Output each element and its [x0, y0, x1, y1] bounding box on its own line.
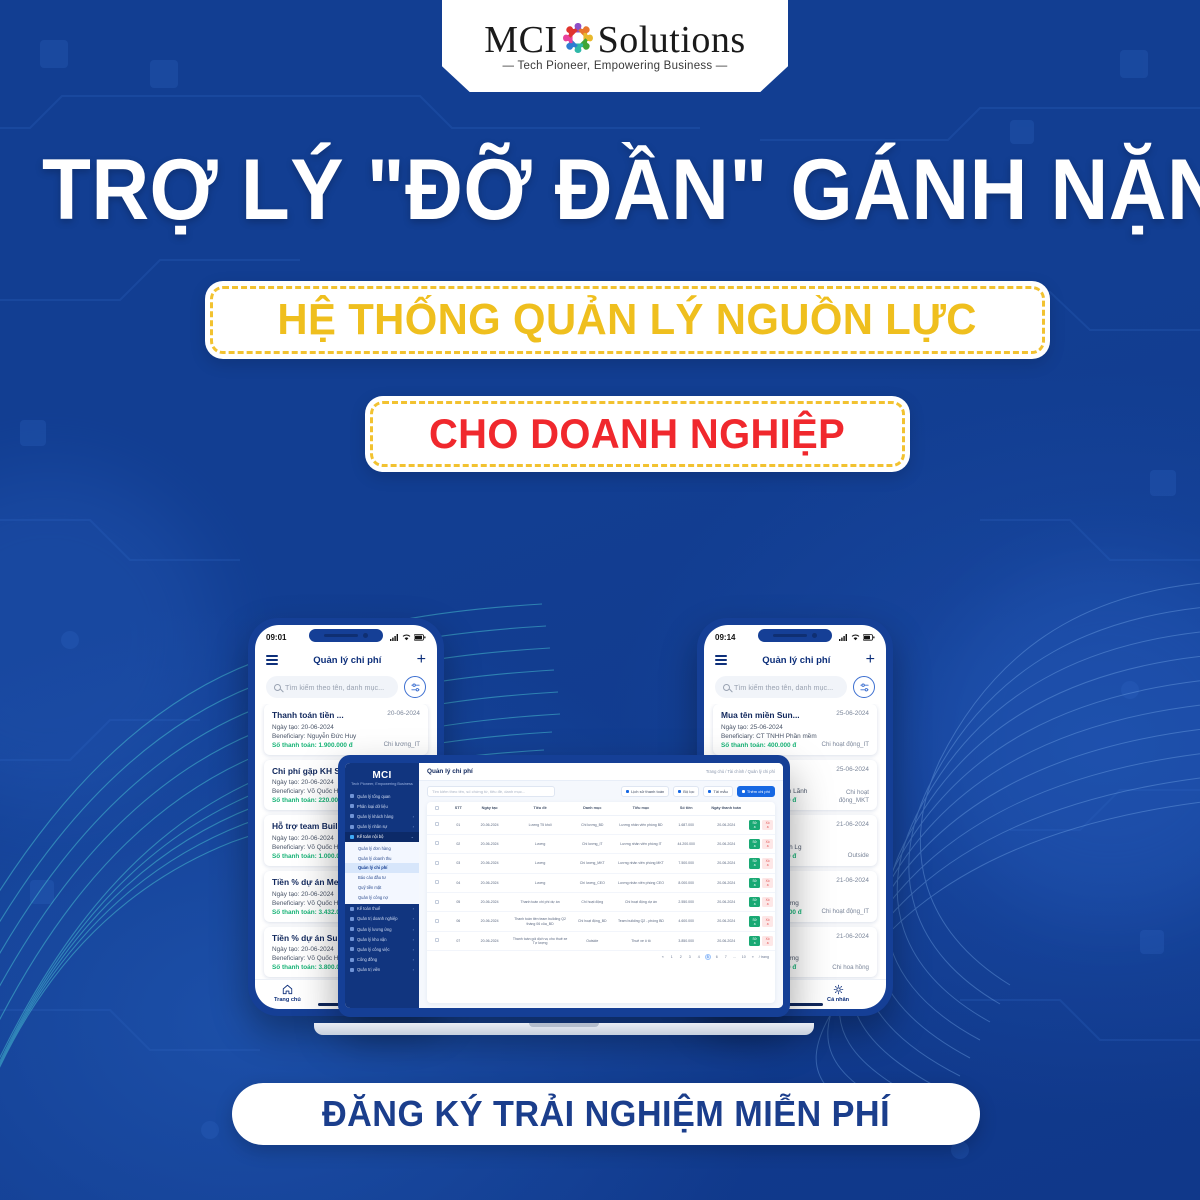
select-all-checkbox[interactable]	[435, 806, 439, 810]
page-7[interactable]: 7	[723, 954, 729, 960]
wifi-icon	[851, 634, 860, 641]
device-mockups: 09:01 Quản lý chi phí + Tìm kiếm the	[0, 600, 1200, 1060]
cell-category: Outside	[570, 931, 615, 950]
cell-actions[interactable]: SửaXóa	[747, 854, 775, 873]
laptop-base	[314, 1023, 814, 1035]
list-item-date: 25-06-2024	[836, 710, 869, 717]
page-4[interactable]: 4	[696, 954, 702, 960]
chevron-right-icon: ›	[413, 937, 414, 942]
cell-subcategory: Lương nhân viên phòng IT	[615, 834, 667, 853]
page-current[interactable]: 5	[705, 954, 711, 960]
cell-paydate: 20-06-2024	[705, 854, 747, 873]
sidebar-item-tax[interactable]: Kế toán thuế ›	[345, 904, 419, 914]
cell-subcategory: Thuê xe ô tô	[615, 931, 667, 950]
home-icon	[282, 984, 293, 995]
cell-created: 20-06-2024	[469, 815, 511, 834]
list-item-tag: Chi hoạt động_MKT	[817, 789, 869, 805]
edit-button[interactable]: Sửa	[749, 858, 760, 868]
col-title[interactable]: Tiêu đề	[511, 802, 570, 815]
subheadline-box-secondary: CHO DOANH NGHIỆP	[365, 396, 910, 472]
cell-stt: 02	[448, 834, 469, 853]
cell-title: Lương	[511, 834, 570, 853]
edit-button[interactable]: Sửa	[749, 897, 760, 907]
chevron-down-icon: ⌄	[411, 834, 414, 839]
cell-title: Thanh toán gói dịch vụ cho thuê xe Tự lư…	[511, 931, 570, 950]
wifi-icon	[402, 634, 411, 641]
submenu-item-orders[interactable]: Quản lý đơn hàng	[345, 843, 419, 853]
cell-created: 20-06-2024	[469, 912, 511, 931]
submenu-item-cash[interactable]: Quỹ tiền mặt	[345, 883, 419, 893]
poster-canvas: MCI Solutions — Tech Pioneer, Empowering…	[0, 0, 1200, 1200]
search-placeholder-left: Tìm kiếm theo tên, danh mục...	[285, 683, 384, 692]
users-icon	[350, 814, 354, 818]
cell-title: Lương	[511, 873, 570, 892]
row-checkbox-cell[interactable]	[427, 873, 448, 892]
list-item-created: Ngày tạo: 25-06-2024	[721, 723, 869, 732]
logo-row: MCI Solutions	[484, 21, 745, 59]
hamburger-icon[interactable]	[266, 655, 278, 664]
nav-tab-profile[interactable]: Cá nhân	[827, 984, 849, 1003]
delete-button[interactable]: Xóa	[762, 916, 773, 926]
cell-amount: 2.550.000	[667, 893, 705, 912]
phone-notch-right	[758, 629, 832, 642]
cell-paydate: 20-06-2024	[705, 893, 747, 912]
row-checkbox[interactable]	[435, 938, 439, 942]
page-10[interactable]: 10	[741, 954, 747, 960]
sidebar-item-customers[interactable]: Quản lý khách hàng ›	[345, 811, 419, 821]
cell-paydate: 20-06-2024	[705, 912, 747, 931]
delete-button[interactable]: Xóa	[762, 839, 773, 849]
laptop-mockup: MCI Tech Pioneer, Empowering Business Qu…	[338, 755, 790, 1035]
page-2[interactable]: 2	[678, 954, 684, 960]
box-icon	[350, 937, 354, 941]
status-icons-right	[839, 634, 875, 641]
cell-category: Chi lương_MKT	[570, 854, 615, 873]
table-row[interactable]: 07 20-06-2024 Thanh toán gói dịch vụ cho…	[427, 931, 775, 950]
cell-paydate: 20-06-2024	[705, 815, 747, 834]
cell-paydate: 20-06-2024	[705, 931, 747, 950]
page-1[interactable]: 1	[669, 954, 675, 960]
filter-label: Bộ lọc	[683, 789, 694, 794]
history-icon	[626, 790, 629, 793]
delete-button[interactable]: Xóa	[762, 897, 773, 907]
wallet-icon	[350, 835, 354, 839]
row-checkbox-cell[interactable]	[427, 912, 448, 931]
expense-table-wrapper[interactable]: STT Ngày tạo Tiêu đề Danh mục Tiểu mục S…	[427, 802, 775, 1003]
cell-stt: 05	[448, 893, 469, 912]
delete-button[interactable]: Xóa	[762, 820, 773, 830]
page-title: TRỢ LÝ "ĐỠ ĐẦN" GÁNH NẶNG	[42, 148, 1158, 232]
sidebar-item-warehouse[interactable]: Quản lý kho vận ›	[345, 934, 419, 944]
list-item-tag: Chi lương_IT	[384, 741, 420, 749]
list-item-beneficiary: Beneficiary: Nguyễn Đức Huy	[272, 732, 420, 741]
col-actions	[747, 802, 775, 815]
row-checkbox-cell[interactable]	[427, 893, 448, 912]
list-item-date: 25-06-2024	[836, 766, 869, 773]
edit-button[interactable]: Sửa	[749, 878, 760, 888]
app-title-right: Quản lý chi phí	[762, 655, 830, 666]
cell-title: Thanh toán chi phí dự án	[511, 893, 570, 912]
delete-button[interactable]: Xóa	[762, 858, 773, 868]
nav-tab-home-label: Trang chủ	[274, 997, 301, 1003]
battery-icon	[414, 634, 426, 641]
status-time-left: 09:01	[266, 633, 286, 642]
download-label: Tải mẫu	[713, 789, 727, 794]
list-item-tag: Chi hoạt động_IT	[822, 908, 869, 916]
cell-stt: 03	[448, 854, 469, 873]
sidebar-item-admin[interactable]: Quản trị viên ›	[345, 965, 419, 975]
col-amount[interactable]: Số tiền	[667, 802, 705, 815]
col-paydate[interactable]: Ngày thanh toán	[705, 802, 747, 815]
brand-tagline: — Tech Pioneer, Empowering Business —	[502, 60, 727, 72]
submenu-item-label: Quỹ tiền mặt	[358, 885, 381, 890]
submenu-item-debt[interactable]: Quản lý công nợ	[345, 892, 419, 902]
sidebar-item-tasks[interactable]: Quản lý công việc ›	[345, 944, 419, 954]
search-row-right: Tìm kiếm theo tên, danh mục...	[704, 673, 886, 704]
cell-title: Lương T5 khối	[511, 815, 570, 834]
laptop-screen: MCI Tech Pioneer, Empowering Business Qu…	[338, 755, 790, 1017]
table-pagination[interactable]: « 1 2 3 4 5 6 7 ... 10 »	[427, 951, 775, 963]
cash-icon	[350, 927, 354, 931]
cell-category: Chi lương_IT	[570, 834, 615, 853]
search-icon	[723, 684, 730, 691]
file-icon	[350, 907, 354, 911]
cell-amount: 7.500.000	[667, 854, 705, 873]
submenu-item-label: Quản lý chi phí	[358, 865, 387, 870]
sidebar-item-label: Quản lý công việc	[357, 947, 390, 952]
download-icon	[708, 790, 711, 793]
cell-category: Chi lương_BD	[570, 815, 615, 834]
cell-amount: 8.000.000	[667, 873, 705, 892]
edit-button[interactable]: Sửa	[749, 916, 760, 926]
cell-created: 20-06-2024	[469, 893, 511, 912]
sidebar-item-label: Quản lý kho vận	[357, 937, 387, 942]
row-checkbox[interactable]	[435, 900, 439, 904]
subheadline-primary-text: HỆ THỐNG QUẢN LÝ NGUỒN LỰC	[278, 295, 977, 345]
dashboard-toolbar: Tìm kiếm theo tên, số chứng từ, tiêu đề,…	[419, 781, 783, 802]
signal-icon	[390, 634, 399, 641]
table-row[interactable]: 01 20-06-2024 Lương T5 khối Chi lương_BD…	[427, 815, 775, 834]
sidebar-item-label: Quản lý khách hàng	[357, 814, 393, 819]
list-item-beneficiary: Beneficiary: CT TNHH Phần mềm	[721, 732, 869, 741]
chevron-right-icon: ›	[413, 906, 414, 911]
sidebar-logo-title: MCI	[345, 770, 419, 781]
cell-amount: 1.687.000	[667, 815, 705, 834]
col-stt[interactable]: STT	[448, 802, 469, 815]
nav-tab-profile-label: Cá nhân	[827, 997, 849, 1003]
sidebar-item-label: Quản lý tổng quan	[357, 794, 390, 799]
expense-table: STT Ngày tạo Tiêu đề Danh mục Tiểu mục S…	[427, 802, 775, 951]
sidebar-item-governance[interactable]: Quản trị doanh nghiệp ›	[345, 914, 419, 924]
edit-button[interactable]: Sửa	[749, 936, 760, 946]
sidebar-item-label: Kế toán thuế	[357, 906, 380, 911]
row-checkbox[interactable]	[435, 861, 439, 865]
search-input-right[interactable]: Tìm kiếm theo tên, danh mục...	[715, 676, 847, 698]
row-checkbox-cell[interactable]	[427, 815, 448, 834]
search-row-left: Tìm kiếm theo tên, danh mục...	[255, 673, 437, 704]
plus-icon[interactable]: +	[866, 652, 875, 668]
cell-title: Thanh toán tiền team building Q2 tháng 0…	[511, 912, 570, 931]
cell-actions[interactable]: SửaXóa	[747, 912, 775, 931]
page-size-label[interactable]: / trang	[759, 954, 769, 960]
filter-sliders-icon[interactable]	[853, 676, 875, 698]
globe-icon	[350, 958, 354, 962]
row-checkbox[interactable]	[435, 841, 439, 845]
cell-subcategory: Team building Q2 - phòng BD	[615, 912, 667, 931]
cell-category: Chi hoạt động	[570, 893, 615, 912]
logo-text-mci: MCI	[484, 21, 557, 59]
subheadline-secondary-text: CHO DOANH NGHIỆP	[429, 410, 845, 458]
sidebar-submenu[interactable]: Quản lý đơn hàng Quản lý doanh thu Quản …	[345, 842, 419, 904]
page-6[interactable]: 6	[714, 954, 720, 960]
dashboard-sidebar[interactable]: MCI Tech Pioneer, Empowering Business Qu…	[345, 763, 419, 1008]
page-ellipsis: ...	[732, 954, 738, 960]
sidebar-item-community[interactable]: Công đồng ›	[345, 955, 419, 965]
dashboard-main: Quản lý chi phí Trang chủ / Tài chính / …	[419, 763, 783, 1008]
page-next[interactable]: »	[750, 954, 756, 960]
sidebar-item-data[interactable]: Phân loại dữ liệu	[345, 801, 419, 811]
status-icons-left	[390, 634, 426, 641]
chevron-right-icon: ›	[413, 957, 414, 962]
filter-icon	[678, 790, 681, 793]
filter-button[interactable]: Bộ lọc	[673, 786, 699, 797]
sidebar-item-label: Kế toán nội bộ	[357, 834, 383, 839]
table-row[interactable]: 03 20-06-2024 Lương Chi lương_MKT Lương …	[427, 854, 775, 873]
sidebar-item-label: Quản lý nhân sự	[357, 824, 387, 829]
add-expense-label: Thêm chi phí	[747, 789, 770, 794]
filter-sliders-icon[interactable]	[404, 676, 426, 698]
add-expense-button[interactable]: Thêm chi phí	[737, 786, 775, 797]
plus-icon	[742, 790, 745, 793]
row-checkbox[interactable]	[435, 880, 439, 884]
page-3[interactable]: 3	[687, 954, 693, 960]
cell-subcategory: Lương nhân viên phòng MKT	[615, 854, 667, 873]
col-subcategory[interactable]: Tiểu mục	[615, 802, 667, 815]
list-item[interactable]: 20-06-2024 Thanh toán tiền ... Ngày tạo:…	[264, 704, 428, 755]
submenu-item-revenue[interactable]: Quản lý doanh thu	[345, 853, 419, 863]
edit-button[interactable]: Sửa	[749, 820, 760, 830]
sidebar-item-accounting[interactable]: Kế toán nội bộ ⌄	[345, 832, 419, 842]
submenu-item-label: Quản lý công nợ	[358, 895, 388, 900]
sidebar-item-label: Quản trị viên	[357, 967, 380, 972]
table-row[interactable]: 05 20-06-2024 Thanh toán chi phí dự án C…	[427, 893, 775, 912]
chevron-right-icon: ›	[413, 814, 414, 819]
cell-actions[interactable]: SửaXóa	[747, 815, 775, 834]
cell-created: 20-06-2024	[469, 931, 511, 950]
person-icon	[350, 825, 354, 829]
task-icon	[350, 947, 354, 951]
table-body: 01 20-06-2024 Lương T5 khối Chi lương_BD…	[427, 815, 775, 951]
cell-subcategory: Chi hoạt động dự án	[615, 893, 667, 912]
nav-tab-home[interactable]: Trang chủ	[274, 984, 301, 1003]
col-category[interactable]: Danh mục	[570, 802, 615, 815]
dashboard-search-placeholder: Tìm kiếm theo tên, số chứng từ, tiêu đề,…	[432, 789, 525, 794]
plus-icon[interactable]: +	[417, 652, 426, 668]
row-checkbox-cell[interactable]	[427, 931, 448, 950]
search-icon	[274, 684, 281, 691]
col-select[interactable]	[427, 802, 448, 815]
sidebar-item-label: Công đồng	[357, 957, 377, 962]
cell-title: Lương	[511, 854, 570, 873]
table-row[interactable]: 04 20-06-2024 Lương Chi lương_CEO Lương …	[427, 873, 775, 892]
payment-history-label: Lịch sử thanh toán	[631, 789, 664, 794]
cell-stt: 06	[448, 912, 469, 931]
app-title-left: Quản lý chi phí	[313, 655, 381, 666]
cell-stt: 04	[448, 873, 469, 892]
shield-icon	[350, 968, 354, 972]
app-bar-right: Quản lý chi phí +	[704, 647, 886, 673]
list-item[interactable]: 25-06-2024 Mua tên miền Sun... Ngày tạo:…	[713, 704, 877, 755]
dashboard-header: Quản lý chi phí Trang chủ / Tài chính / …	[419, 763, 783, 781]
hamburger-icon[interactable]	[715, 655, 727, 664]
table-header-row: STT Ngày tạo Tiêu đề Danh mục Tiểu mục S…	[427, 802, 775, 815]
subheadline-box-primary: HỆ THỐNG QUẢN LÝ NGUỒN LỰC	[205, 281, 1050, 359]
cell-paydate: 20-06-2024	[705, 873, 747, 892]
battery-icon	[863, 634, 875, 641]
cell-amount: 4.600.000	[667, 912, 705, 931]
table-row[interactable]: 06 20-06-2024 Thanh toán tiền team build…	[427, 912, 775, 931]
delete-button[interactable]: Xóa	[762, 936, 773, 946]
list-item-date: 20-06-2024	[387, 710, 420, 717]
row-checkbox-cell[interactable]	[427, 834, 448, 853]
search-placeholder-right: Tìm kiếm theo tên, danh mục...	[734, 683, 833, 692]
sidebar-logo: MCI Tech Pioneer, Empowering Business	[345, 768, 419, 791]
sidebar-item-payroll[interactable]: Quản lý lương ứng ›	[345, 924, 419, 934]
dashboard-icon	[350, 794, 354, 798]
row-checkbox-cell[interactable]	[427, 854, 448, 873]
phone-notch-left	[309, 629, 383, 642]
cell-actions[interactable]: SửaXóa	[747, 873, 775, 892]
logo-text-solutions: Solutions	[598, 21, 746, 59]
cell-created: 20-06-2024	[469, 834, 511, 853]
submenu-item-investment[interactable]: Báo cáo đầu tư	[345, 873, 419, 883]
edit-button[interactable]: Sửa	[749, 839, 760, 849]
list-item-tag: Outside	[848, 852, 869, 860]
submenu-item-label: Quản lý đơn hàng	[358, 846, 391, 851]
breadcrumb: Trang chủ / Tài chính / Quản lý chi phí	[706, 769, 775, 774]
cell-created: 20-06-2024	[469, 854, 511, 873]
sidebar-item-overview[interactable]: Quản lý tổng quan	[345, 791, 419, 801]
list-item-tag: Chi hoạt động_IT	[822, 741, 869, 749]
sidebar-item-label: Quản lý lương ứng	[357, 927, 392, 932]
page-prev[interactable]: «	[660, 954, 666, 960]
delete-button[interactable]: Xóa	[762, 878, 773, 888]
col-created[interactable]: Ngày tạo	[469, 802, 511, 815]
cell-stt: 07	[448, 931, 469, 950]
cell-category: Chi lương_CEO	[570, 873, 615, 892]
download-template-button[interactable]: Tải mẫu	[703, 786, 732, 797]
cta-button[interactable]: ĐĂNG KÝ TRẢI NGHIỆM MIỄN PHÍ	[232, 1083, 980, 1145]
puzzle-circle-icon	[561, 21, 595, 55]
submenu-item-expenses[interactable]: Quản lý chi phí	[345, 863, 419, 873]
submenu-item-label: Quản lý doanh thu	[358, 856, 391, 861]
chevron-right-icon: ›	[413, 824, 414, 829]
app-bar-left: Quản lý chi phí +	[255, 647, 437, 673]
dashboard-page-title: Quản lý chi phí	[427, 768, 473, 775]
list-item-date: 21-06-2024	[836, 877, 869, 884]
gear-icon	[833, 984, 844, 995]
cell-amount: 3.850.000	[667, 931, 705, 950]
list-item-tag: Chi hoa hồng	[832, 964, 869, 972]
sidebar-item-hr[interactable]: Quản lý nhân sự ›	[345, 822, 419, 832]
chevron-right-icon: ›	[413, 927, 414, 932]
cell-category: Chi hoạt động_BD	[570, 912, 615, 931]
submenu-item-label: Báo cáo đầu tư	[358, 875, 386, 880]
layers-icon	[350, 804, 354, 808]
dashboard-search-input[interactable]: Tìm kiếm theo tên, số chứng từ, tiêu đề,…	[427, 786, 555, 797]
row-checkbox[interactable]	[435, 919, 439, 923]
chevron-right-icon: ›	[413, 916, 414, 921]
search-input-left[interactable]: Tìm kiếm theo tên, danh mục...	[266, 676, 398, 698]
chevron-right-icon: ›	[413, 967, 414, 972]
sidebar-logo-sub: Tech Pioneer, Empowering Business	[345, 782, 419, 786]
building-icon	[350, 917, 354, 921]
cell-subcategory: Lương nhân viên phòng CEO	[615, 873, 667, 892]
sidebar-item-label: Phân loại dữ liệu	[357, 804, 388, 809]
list-item-created: Ngày tạo: 20-06-2024	[272, 723, 420, 732]
list-item-date: 21-06-2024	[836, 821, 869, 828]
brand-logo: MCI Solutions — Tech Pioneer, Empowering…	[442, 0, 788, 92]
cell-actions[interactable]: SửaXóa	[747, 834, 775, 853]
sidebar-item-label: Quản trị doanh nghiệp	[357, 916, 398, 921]
cell-subcategory: Lương nhân viên phòng BD	[615, 815, 667, 834]
cell-actions[interactable]: SửaXóa	[747, 931, 775, 950]
cell-actions[interactable]: SửaXóa	[747, 893, 775, 912]
list-item-date: 21-06-2024	[836, 933, 869, 940]
cell-paydate: 20-06-2024	[705, 834, 747, 853]
chevron-right-icon: ›	[413, 947, 414, 952]
cell-created: 20-06-2024	[469, 873, 511, 892]
cell-amount: 44.200.000	[667, 834, 705, 853]
row-checkbox[interactable]	[435, 822, 439, 826]
payment-history-button[interactable]: Lịch sử thanh toán	[621, 786, 669, 797]
cta-label: ĐĂNG KÝ TRẢI NGHIỆM MIỄN PHÍ	[322, 1093, 890, 1135]
table-row[interactable]: 02 20-06-2024 Lương Chi lương_IT Lương n…	[427, 834, 775, 853]
status-time-right: 09:14	[715, 633, 735, 642]
signal-icon	[839, 634, 848, 641]
cell-stt: 01	[448, 815, 469, 834]
